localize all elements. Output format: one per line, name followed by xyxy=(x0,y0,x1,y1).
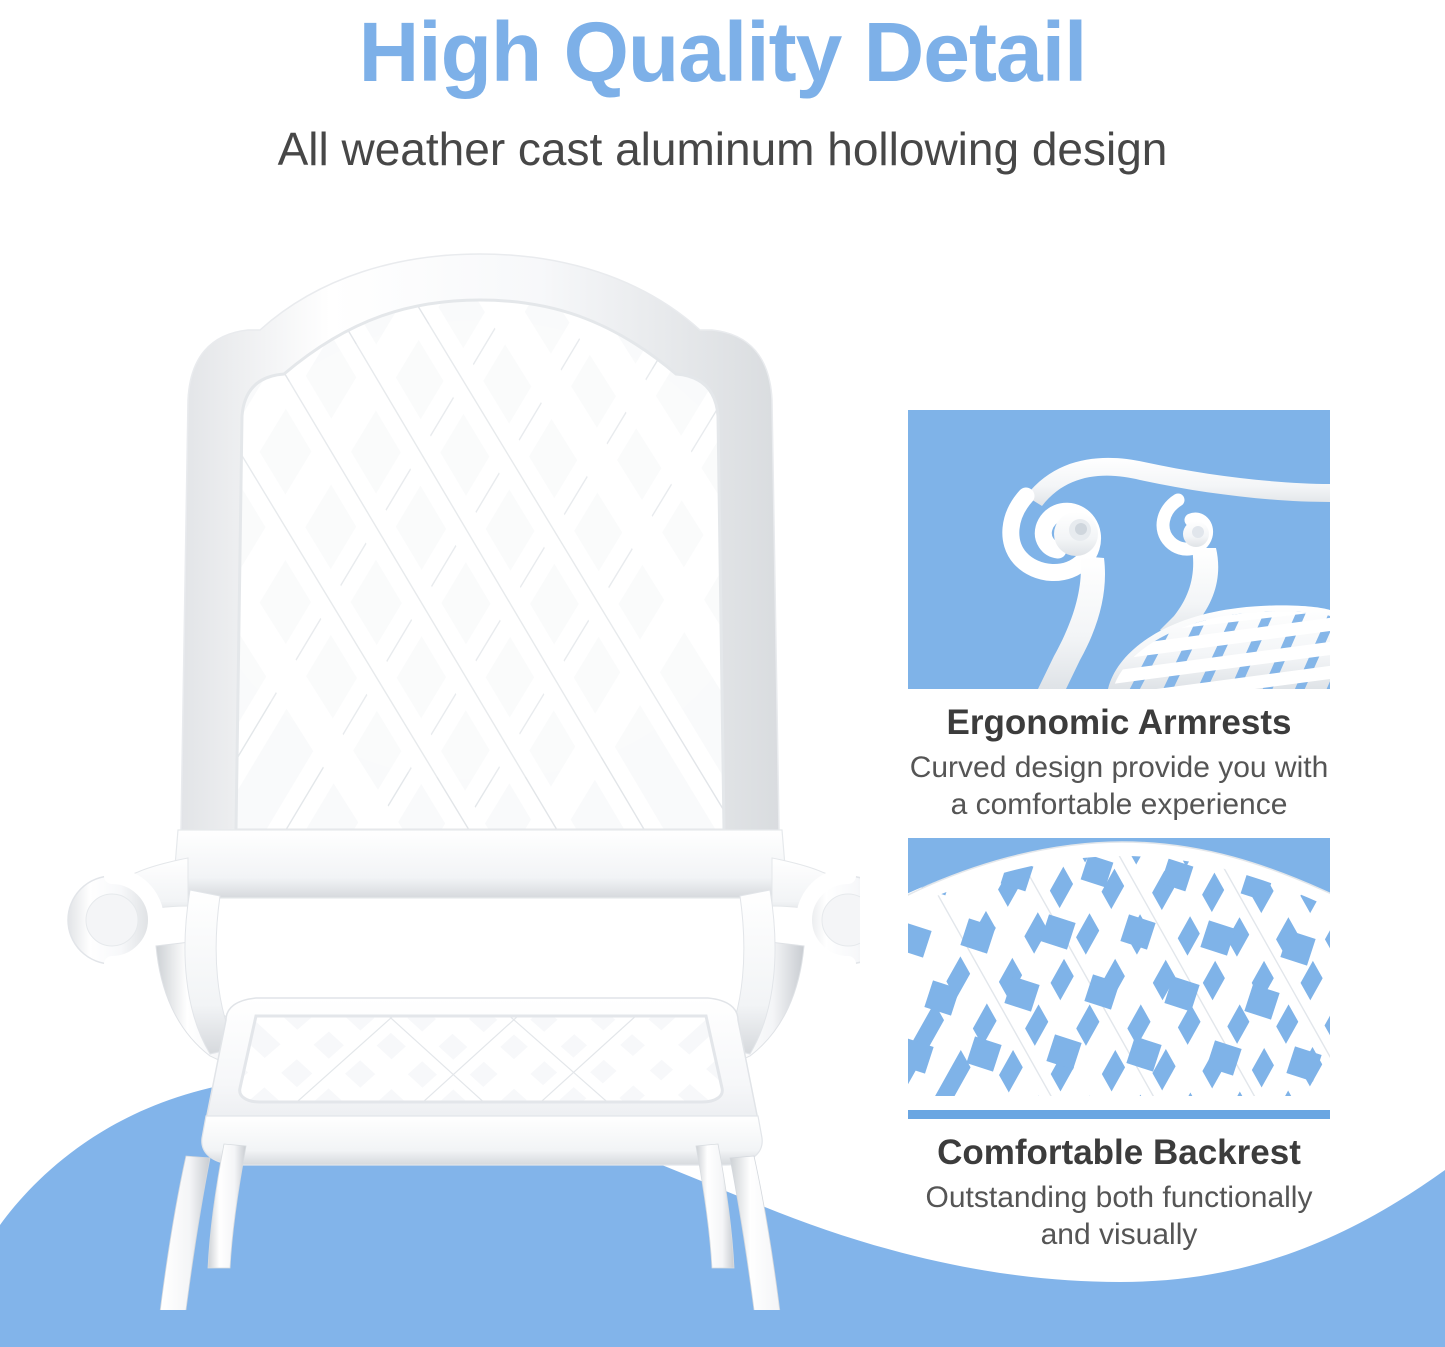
infographic-canvas: High Quality Detail All weather cast alu… xyxy=(0,0,1445,1347)
page-subtitle: All weather cast aluminum hollowing desi… xyxy=(0,118,1445,180)
chair-legs-group xyxy=(142,1144,798,1310)
feature-heading-backrest: Comfortable Backrest xyxy=(908,1131,1330,1175)
hero-product-photo xyxy=(60,230,860,1310)
chair-seat-group xyxy=(180,990,776,1165)
armrest-closeup-photo xyxy=(908,410,1330,689)
feature-card-ergonomic-armrests: Ergonomic Armrests Curved design provide… xyxy=(908,410,1330,823)
page-title: High Quality Detail xyxy=(0,2,1445,102)
chair-backrest-group xyxy=(60,254,860,920)
feature-heading-armrests: Ergonomic Armrests xyxy=(908,701,1330,745)
backrest-closeup-photo xyxy=(908,838,1330,1119)
feature-caption-backrest-line2: and visually xyxy=(899,1216,1339,1253)
feature-caption-armrests-line1: Curved design provide you with xyxy=(899,749,1339,786)
feature-card-comfortable-backrest: Comfortable Backrest Outstanding both fu… xyxy=(908,838,1330,1253)
feature-caption-backrest-line1: Outstanding both functionally xyxy=(899,1179,1339,1216)
feature-caption-armrests-line2: a comfortable experience xyxy=(899,786,1339,823)
